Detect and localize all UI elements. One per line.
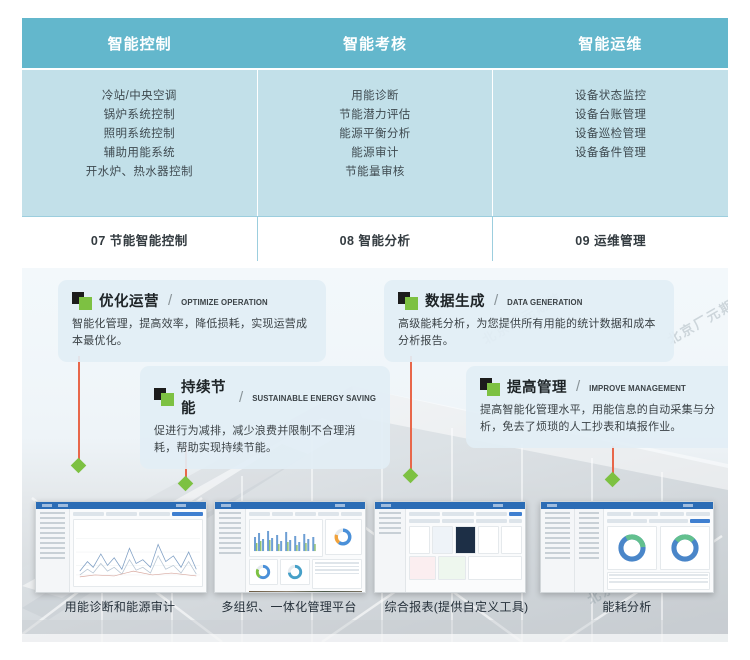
- screenshot-thumb-comprehensive-report[interactable]: [374, 501, 526, 593]
- list-item: 能源审计: [351, 144, 399, 163]
- square-pair-icon: [72, 292, 92, 310]
- hero-section: 北京厂元期技 北京厂元期技 北京厂元期技 优化运营 / OPTIMIZE OPE…: [22, 268, 728, 642]
- app-titlebar: [215, 502, 365, 509]
- app-titlebar: [375, 502, 525, 509]
- line-chart-preview: [76, 522, 200, 584]
- screenshot-caption-3: 综合报表(提供自定义工具): [369, 598, 544, 615]
- card-body-text: 提高智能化管理水平，用能信息的自动采集与分析，免去了烦琐的人工抄表和填报作业。: [480, 402, 724, 436]
- app-main: [406, 509, 526, 592]
- donut-chart-preview: [332, 526, 354, 548]
- card-subtitle-en: IMPROVE MANAGEMENT: [589, 381, 686, 393]
- capability-table: 智能控制 智能考核 智能运维 冷站/中央空调 锅炉系统控制 照明系统控制 辅助用…: [22, 18, 728, 261]
- table-body-cell-1: 用能诊断 节能潜力评估 能源平衡分析 能源审计 节能量审核: [257, 70, 493, 216]
- connector-line-3: [410, 356, 412, 476]
- table-footer-cell-2: 09 运维管理: [492, 217, 728, 261]
- list-item: 能源平衡分析: [339, 125, 410, 144]
- list-item: 锅炉系统控制: [104, 106, 175, 125]
- app-sidebar: [541, 509, 575, 592]
- feature-card-data-generation[interactable]: 数据生成 / DATA GENERATION 高级能耗分析，为您提供所有用能的统…: [384, 280, 674, 362]
- app-sidebar: [375, 509, 406, 592]
- gauge-chart-preview: [254, 563, 272, 581]
- list-item: 设备巡检管理: [575, 125, 646, 144]
- table-body-cell-2: 设备状态监控 设备台账管理 设备巡检管理 设备备件管理: [492, 70, 728, 216]
- list-item: 用能诊断: [351, 87, 399, 106]
- app-sidebar-secondary: [575, 509, 604, 592]
- card-subtitle-en: OPTIMIZE OPERATION: [181, 295, 268, 307]
- screenshot-caption-1: 用能诊断和能源审计: [35, 598, 205, 615]
- list-item: 辅助用能系统: [104, 144, 175, 163]
- card-body-text: 促进行为减排，减少浪费并限制不合理消耗，帮助实现持续节能。: [154, 423, 376, 457]
- app-titlebar: [541, 502, 713, 509]
- card-separator: /: [239, 389, 243, 406]
- card-separator: /: [168, 292, 172, 309]
- card-header: 提高管理 / IMPROVE MANAGEMENT: [480, 376, 724, 397]
- gauge-chart-preview: [286, 563, 304, 581]
- card-title: 持续节能: [181, 376, 230, 418]
- feature-card-improve-management[interactable]: 提高管理 / IMPROVE MANAGEMENT 提高智能化管理水平，用能信息…: [466, 366, 728, 448]
- app-body: [541, 509, 713, 592]
- list-item: 设备状态监控: [575, 87, 646, 106]
- table-body-cell-0: 冷站/中央空调 锅炉系统控制 照明系统控制 辅助用能系统 开水炉、热水器控制: [22, 70, 257, 216]
- list-item: 节能量审核: [345, 163, 405, 182]
- app-main: [604, 509, 713, 592]
- feature-card-sustainable-energy-saving[interactable]: 持续节能 / SUSTAINABLE ENERGY SAVING 促进行为减排，…: [140, 366, 390, 469]
- card-title: 优化运营: [99, 290, 159, 311]
- connector-line-1: [78, 356, 80, 466]
- card-header: 优化运营 / OPTIMIZE OPERATION: [72, 290, 312, 311]
- table-footer-cell-0: 07 节能智能控制: [22, 217, 257, 261]
- table-footer-row: 07 节能智能控制 08 智能分析 09 运维管理: [22, 216, 728, 261]
- list-item: 节能潜力评估: [339, 106, 410, 125]
- card-separator: /: [576, 378, 580, 395]
- app-titlebar: [36, 502, 206, 509]
- screenshot-caption-2: 多组织、一体化管理平台: [204, 598, 374, 615]
- table-header-cell-0: 智能控制: [22, 18, 257, 68]
- list-item: 照明系统控制: [104, 125, 175, 144]
- card-subtitle-en: SUSTAINABLE ENERGY SAVING: [252, 391, 376, 403]
- table-header-cell-1: 智能考核: [257, 18, 492, 68]
- table-footer-cell-1: 08 智能分析: [257, 217, 493, 261]
- list-item: 冷站/中央空调: [102, 87, 177, 106]
- table-header-row: 智能控制 智能考核 智能运维: [22, 18, 728, 68]
- square-pair-icon: [480, 378, 500, 396]
- app-main: [70, 509, 206, 592]
- app-body: [215, 509, 365, 592]
- card-header: 数据生成 / DATA GENERATION: [398, 290, 660, 311]
- donut-chart-preview: [668, 531, 702, 565]
- app-sidebar: [36, 509, 70, 592]
- square-pair-icon: [398, 292, 418, 310]
- screenshot-thumb-multi-org-platform[interactable]: [214, 501, 366, 593]
- app-main: [246, 509, 366, 592]
- card-subtitle-en: DATA GENERATION: [507, 295, 582, 307]
- app-sidebar: [215, 509, 246, 592]
- card-title: 提高管理: [507, 376, 567, 397]
- donut-chart-preview: [615, 531, 649, 565]
- app-body: [375, 509, 525, 592]
- table-header-cell-2: 智能运维: [493, 18, 728, 68]
- table-body-row: 冷站/中央空调 锅炉系统控制 照明系统控制 辅助用能系统 开水炉、热水器控制 用…: [22, 68, 728, 216]
- bar-chart-preview: [251, 521, 321, 555]
- app-body: [36, 509, 206, 592]
- list-item: 开水炉、热水器控制: [86, 163, 193, 182]
- feature-card-optimize-operation[interactable]: 优化运营 / OPTIMIZE OPERATION 智能化管理，提高效率，降低损…: [58, 280, 326, 362]
- screenshot-caption-4: 能耗分析: [567, 598, 687, 615]
- list-item: 设备台账管理: [575, 106, 646, 125]
- card-title: 数据生成: [425, 290, 485, 311]
- card-separator: /: [494, 292, 498, 309]
- screenshot-thumb-energy-consumption-analysis[interactable]: [540, 501, 714, 593]
- card-body-text: 智能化管理，提高效率，降低损耗，实现运营成本最优化。: [72, 316, 312, 350]
- screenshot-thumb-energy-audit[interactable]: [35, 501, 207, 593]
- page-root: 智能控制 智能考核 智能运维 冷站/中央空调 锅炉系统控制 照明系统控制 辅助用…: [0, 0, 750, 660]
- list-item: 设备备件管理: [575, 144, 646, 163]
- card-header: 持续节能 / SUSTAINABLE ENERGY SAVING: [154, 376, 376, 418]
- square-pair-icon: [154, 388, 174, 406]
- card-body-text: 高级能耗分析，为您提供所有用能的统计数据和成本分析报告。: [398, 316, 660, 350]
